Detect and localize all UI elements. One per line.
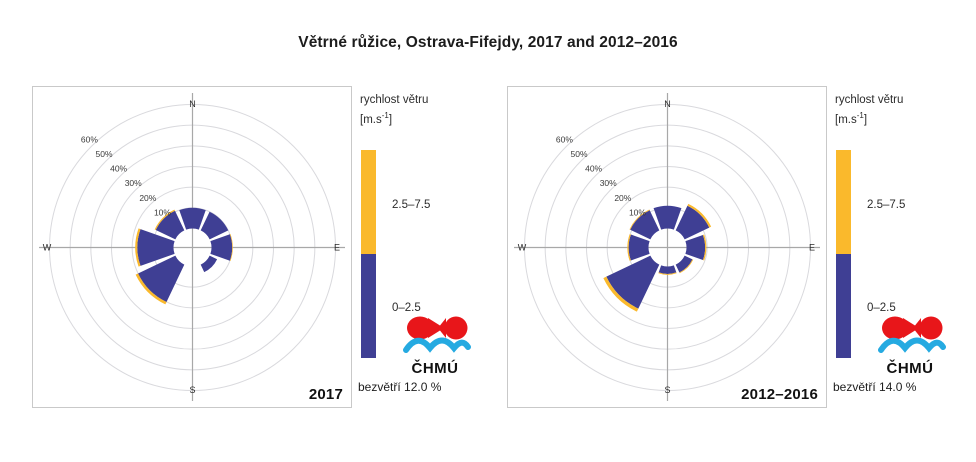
radial-tick-label: 10% [154, 207, 171, 217]
page-title: Větrné růžice, Ostrava-Fifejdy, 2017 and… [0, 34, 976, 52]
radial-tick-label: 30% [125, 178, 142, 188]
legend-2017: rychlost větru [m.s-1] 2.5–7.5 0–2.5 ČHM… [358, 86, 484, 408]
compass-label-e: E [809, 243, 815, 253]
legend-title-2012-2016: rychlost větru [m.s-1] [835, 92, 903, 128]
radial-tick-label: 30% [600, 178, 617, 188]
radial-tick-label: 40% [110, 164, 127, 174]
compass-label-n: N [189, 99, 196, 109]
legend-swatch-low [361, 254, 376, 358]
calm-label-2012-2016: bezvětří 14.0 % [833, 380, 916, 394]
radial-tick-label: 60% [556, 134, 573, 144]
chmu-logo-2012-2016: ČHMÚ [869, 314, 951, 376]
rose-plot-2017: 10%20%30%40%50%60%NSEW 2017 [32, 86, 352, 408]
radial-tick-label: 20% [614, 193, 631, 203]
year-label-2012-2016: 2012–2016 [741, 386, 818, 403]
legend-label-high-2012-2016: 2.5–7.5 [867, 199, 905, 211]
legend-title-line1: rychlost větru [360, 94, 428, 106]
radial-tick-label: 60% [81, 134, 98, 144]
legend-label-low-2017: 0–2.5 [392, 302, 421, 314]
chmu-logo-text-2017: ČHMÚ [394, 360, 476, 377]
compass-label-w: W [43, 243, 52, 253]
legend-swatch-high [361, 150, 376, 254]
panel-2017: 10%20%30%40%50%60%NSEW 2017 rychlost vět… [32, 86, 484, 408]
compass-label-s: S [189, 385, 195, 395]
legend-colorbar-2012-2016 [836, 150, 851, 358]
chmu-logo-icon [394, 314, 476, 358]
radial-tick-label: 20% [139, 193, 156, 203]
legend-title-line2: [m.s-1] [360, 114, 392, 126]
radial-tick-label: 50% [95, 149, 112, 159]
calm-label-2017: bezvětří 12.0 % [358, 380, 441, 394]
legend-2012-2016: rychlost větru [m.s-1] 2.5–7.5 0–2.5 ČHM… [833, 86, 959, 408]
radial-tick-label: 10% [629, 207, 646, 217]
rose-plot-2012-2016: 10%20%30%40%50%60%NSEW 2012–2016 [507, 86, 827, 408]
rose-svg-2012-2016: 10%20%30%40%50%60%NSEW [508, 87, 826, 407]
legend-title-2017: rychlost větru [m.s-1] [360, 92, 428, 128]
legend-label-high-2017: 2.5–7.5 [392, 199, 430, 211]
chmu-logo-2017: ČHMÚ [394, 314, 476, 376]
legend-swatch-high-b [836, 150, 851, 254]
wind-rose-figure: Větrné růžice, Ostrava-Fifejdy, 2017 and… [0, 0, 976, 462]
compass-label-e: E [334, 243, 340, 253]
compass-label-n: N [664, 99, 671, 109]
legend-title-line1-b: rychlost větru [835, 94, 903, 106]
compass-label-s: S [664, 385, 670, 395]
rose-svg-2017: 10%20%30%40%50%60%NSEW [33, 87, 351, 407]
radial-tick-label: 40% [585, 164, 602, 174]
legend-label-low-2012-2016: 0–2.5 [867, 302, 896, 314]
chmu-logo-text-2012-2016: ČHMÚ [869, 360, 951, 377]
year-label-2017: 2017 [309, 386, 343, 403]
panel-2012-2016: 10%20%30%40%50%60%NSEW 2012–2016 rychlos… [507, 86, 959, 408]
legend-swatch-low-b [836, 254, 851, 358]
chmu-logo-icon-b [869, 314, 951, 358]
compass-label-w: W [518, 243, 527, 253]
legend-title-line2-b: [m.s-1] [835, 114, 867, 126]
radial-tick-label: 50% [570, 149, 587, 159]
legend-colorbar-2017 [361, 150, 376, 358]
